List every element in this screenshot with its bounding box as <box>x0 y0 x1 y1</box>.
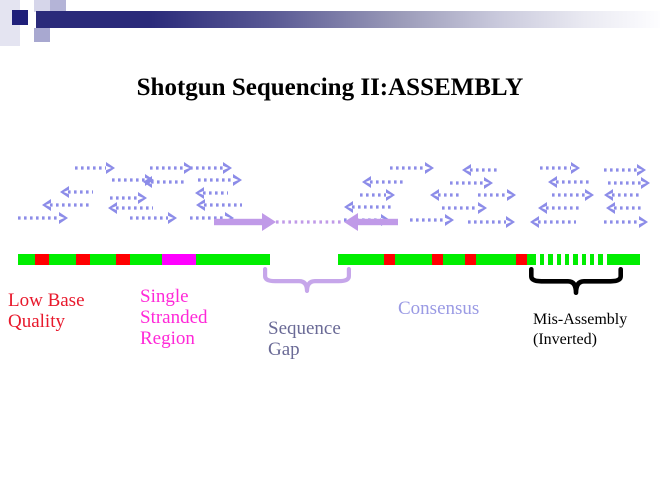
left-contig-segment-red <box>35 254 49 265</box>
left-contig-segment-red <box>116 254 130 265</box>
left-contig-segment-magenta <box>162 254 196 265</box>
inverted-region-dash <box>586 254 590 265</box>
read-arrow-left <box>606 202 644 214</box>
read-arrow-right <box>190 162 232 174</box>
label-sequence-gap: Sequence Gap <box>268 318 341 360</box>
slide-title: Shotgun Sequencing II:ASSEMBLY <box>0 74 660 102</box>
inverted-region-dash <box>561 254 565 265</box>
read-arrow-right <box>198 174 242 186</box>
right-contig-segment-red <box>516 254 527 265</box>
label-consensus: Consensus <box>398 298 479 319</box>
read-arrow-right <box>390 162 434 174</box>
read-arrow-right <box>75 162 115 174</box>
left-contig-segment-green <box>196 254 270 265</box>
read-arrow-right <box>604 164 646 176</box>
label-single-stranded-region: Single Stranded Region <box>140 286 208 349</box>
read-arrow-left <box>548 176 592 188</box>
read-arrow-right <box>478 189 516 201</box>
banner-square-overlay-2 <box>50 0 66 11</box>
read-arrow-right <box>552 189 594 201</box>
read-arrow-left <box>196 199 242 211</box>
label-low-base-quality: Low Base Quality <box>8 290 85 332</box>
read-arrow-right <box>150 162 193 174</box>
read-arrow-right <box>468 216 515 228</box>
inverted-region-dash <box>536 254 540 265</box>
read-arrow-left <box>108 202 153 214</box>
read-arrow-left <box>42 199 90 211</box>
read-arrow-right <box>608 177 650 189</box>
left-contig-segment-red <box>76 254 90 265</box>
decorative-header-banner <box>0 0 660 46</box>
read-arrow-left <box>430 189 462 201</box>
banner-square-overlay-1 <box>34 0 50 11</box>
inverted-region-dash <box>544 254 548 265</box>
right-contig-segment-green <box>338 254 384 265</box>
inverted-region-dash <box>578 254 582 265</box>
read-arrow-right <box>360 189 395 201</box>
read-arrow-right <box>410 214 454 226</box>
inverted-region-dash <box>553 254 557 265</box>
read-arrow-left <box>60 186 93 198</box>
read-arrow-left <box>462 164 499 176</box>
left-contig-segment-green <box>130 254 162 265</box>
left-contig-segment-green <box>90 254 116 265</box>
read-arrow-right <box>540 162 580 174</box>
banner-square-edge <box>0 0 12 46</box>
left-contig-segment-green <box>49 254 76 265</box>
right-contig-segment-green <box>395 254 432 265</box>
right-contig-segment-red <box>432 254 443 265</box>
label-mis-assembly: Mis-Assembly (Inverted) <box>533 310 627 350</box>
read-arrow-right <box>450 177 493 189</box>
read-arrow-left <box>344 201 392 213</box>
right-contig-segment-green <box>443 254 465 265</box>
read-arrow-left <box>604 189 640 201</box>
banner-gradient-bar <box>36 11 660 28</box>
inverted-region-dash <box>603 254 607 265</box>
read-arrow-left <box>362 176 405 188</box>
read-arrow-right <box>18 212 68 224</box>
right-contig-segment-red <box>384 254 395 265</box>
banner-square-overlay-3 <box>34 28 50 41</box>
mate-pair-link <box>214 213 398 231</box>
mis-assembly-brace <box>528 266 624 296</box>
right-contig-segment-red <box>465 254 476 265</box>
banner-square-accent <box>12 10 28 25</box>
read-arrow-right <box>604 216 648 228</box>
read-arrow-right <box>442 202 487 214</box>
read-arrow-left <box>538 202 580 214</box>
read-arrow-left <box>195 187 228 199</box>
read-arrow-right <box>110 192 147 204</box>
sequence-gap-brace <box>262 266 352 294</box>
inverted-region-dash <box>569 254 573 265</box>
left-contig-segment-green <box>18 254 35 265</box>
right-contig-segment-green <box>476 254 516 265</box>
inverted-region-dash <box>594 254 598 265</box>
read-arrow-left <box>530 216 576 228</box>
read-arrow-right <box>130 212 177 224</box>
